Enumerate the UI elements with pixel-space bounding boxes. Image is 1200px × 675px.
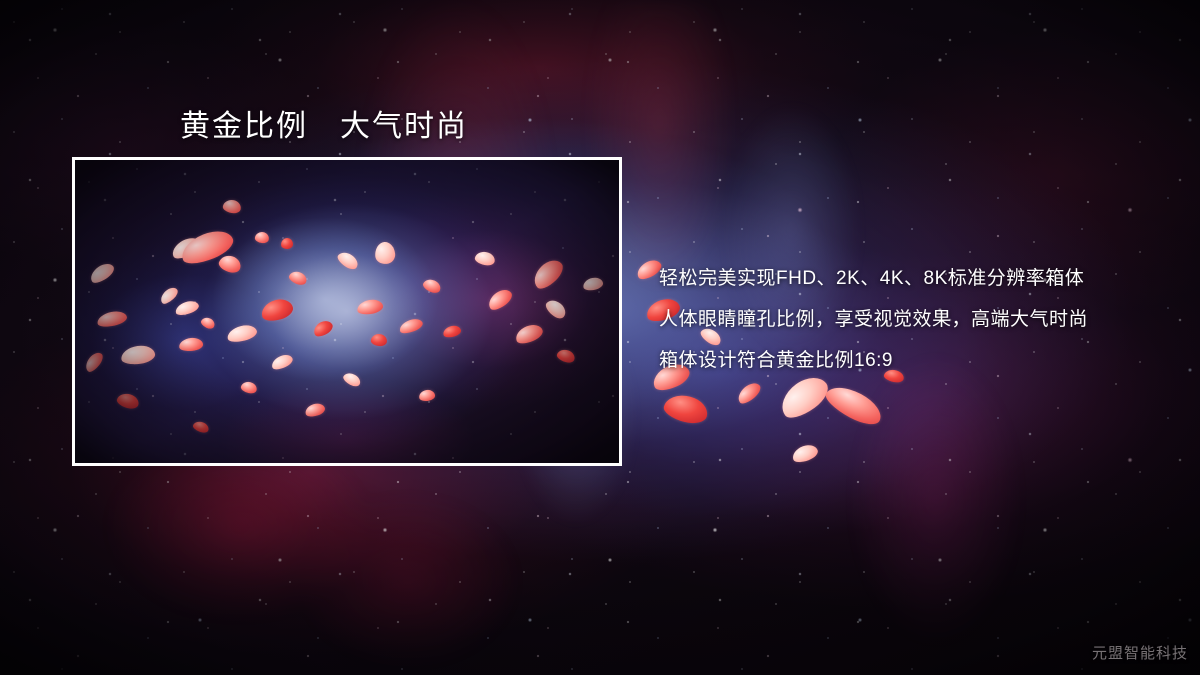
body-line-1: 轻松完美实现FHD、2K、4K、8K标准分辨率箱体 bbox=[659, 258, 1179, 299]
presentation-slide: 黄金比例 大气时尚 bbox=[0, 0, 1200, 675]
watermark: 元盟智能科技 bbox=[1092, 642, 1188, 663]
slide-title: 黄金比例 大气时尚 bbox=[180, 101, 468, 145]
picture-frame[interactable] bbox=[72, 157, 622, 466]
body-line-3: 箱体设计符合黄金比例16:9 bbox=[659, 340, 1179, 381]
body-copy: 轻松完美实现FHD、2K、4K、8K标准分辨率箱体 人体眼睛瞳孔比例，享受视觉效… bbox=[659, 258, 1179, 381]
body-line-2: 人体眼睛瞳孔比例，享受视觉效果，高端大气时尚 bbox=[659, 299, 1179, 340]
framed-image-vignette bbox=[75, 160, 619, 463]
